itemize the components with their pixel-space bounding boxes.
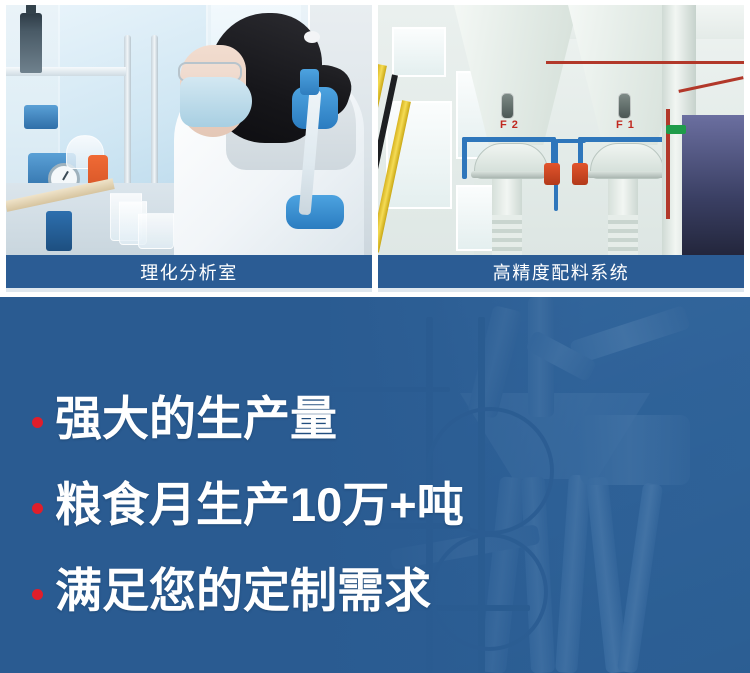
sight-glass-f1-icon bbox=[618, 93, 631, 119]
highlight-text-1: 强大的生产量 bbox=[55, 395, 337, 442]
sight-glass-f2-icon bbox=[501, 93, 514, 119]
pipette-plunger-icon bbox=[300, 69, 319, 95]
hair-tie-icon bbox=[304, 31, 320, 43]
support-frame-f2-left bbox=[462, 137, 467, 179]
valve-flange-f2 bbox=[471, 171, 549, 178]
promo-page: 理化分析室 F 2 F 1 bbox=[0, 0, 750, 673]
photo-card-batching[interactable]: F 2 F 1 bbox=[378, 5, 744, 292]
lab-technician-figure bbox=[154, 5, 364, 255]
exit-sign-icon bbox=[666, 125, 686, 134]
glove-lower-icon bbox=[286, 195, 344, 229]
flexible-bellows-f2-icon bbox=[492, 215, 522, 255]
highlight-text-3: 满足您的定制需求 bbox=[55, 567, 431, 614]
highlight-item-2: 粮食月生产10万+吨 bbox=[32, 461, 750, 547]
lab-photo bbox=[6, 5, 372, 255]
lab-console-icon bbox=[46, 211, 72, 251]
actuator-f2-icon bbox=[544, 163, 560, 185]
support-frame-f1-top bbox=[578, 137, 672, 142]
highlight-item-1: 强大的生产量 bbox=[32, 375, 750, 461]
support-frame-f2-top bbox=[462, 137, 556, 142]
face-mask-icon bbox=[180, 77, 252, 127]
photo-card-lab[interactable]: 理化分析室 bbox=[6, 5, 372, 292]
highlights-banner: 强大的生产量 粮食月生产10万+吨 满足您的定制需求 bbox=[0, 297, 750, 673]
hopper-label-f2: F 2 bbox=[500, 119, 519, 131]
lab-stand-pole-icon bbox=[124, 35, 131, 200]
reagent-bottle-icon bbox=[20, 13, 42, 73]
window-bottom-icon bbox=[456, 185, 494, 251]
red-dot-bullet-icon bbox=[32, 503, 43, 514]
center-crossbar bbox=[556, 139, 586, 143]
photo-caption-batching: 高精度配料系统 bbox=[378, 255, 744, 288]
highlight-text-2: 粮食月生产10万+吨 bbox=[55, 481, 464, 528]
photo-gallery: 理化分析室 F 2 F 1 bbox=[0, 0, 750, 292]
valve-flange-f1 bbox=[587, 171, 665, 178]
red-dot-bullet-icon bbox=[32, 417, 43, 428]
flexible-bellows-f1-icon bbox=[608, 215, 638, 255]
window-upper-icon bbox=[392, 27, 446, 77]
lab-instrument-block-icon bbox=[24, 105, 58, 129]
batching-photo: F 2 F 1 bbox=[378, 5, 744, 255]
photo-caption-lab: 理化分析室 bbox=[6, 255, 372, 288]
highlight-item-3: 满足您的定制需求 bbox=[32, 547, 750, 633]
highlights-list: 强大的生产量 粮食月生产10万+吨 满足您的定制需求 bbox=[0, 297, 750, 673]
actuator-f1-icon bbox=[572, 163, 588, 185]
hopper-label-f1: F 1 bbox=[616, 119, 635, 131]
doorway bbox=[682, 115, 744, 255]
fire-pipe-1 bbox=[546, 61, 744, 64]
red-dot-bullet-icon bbox=[32, 589, 43, 600]
